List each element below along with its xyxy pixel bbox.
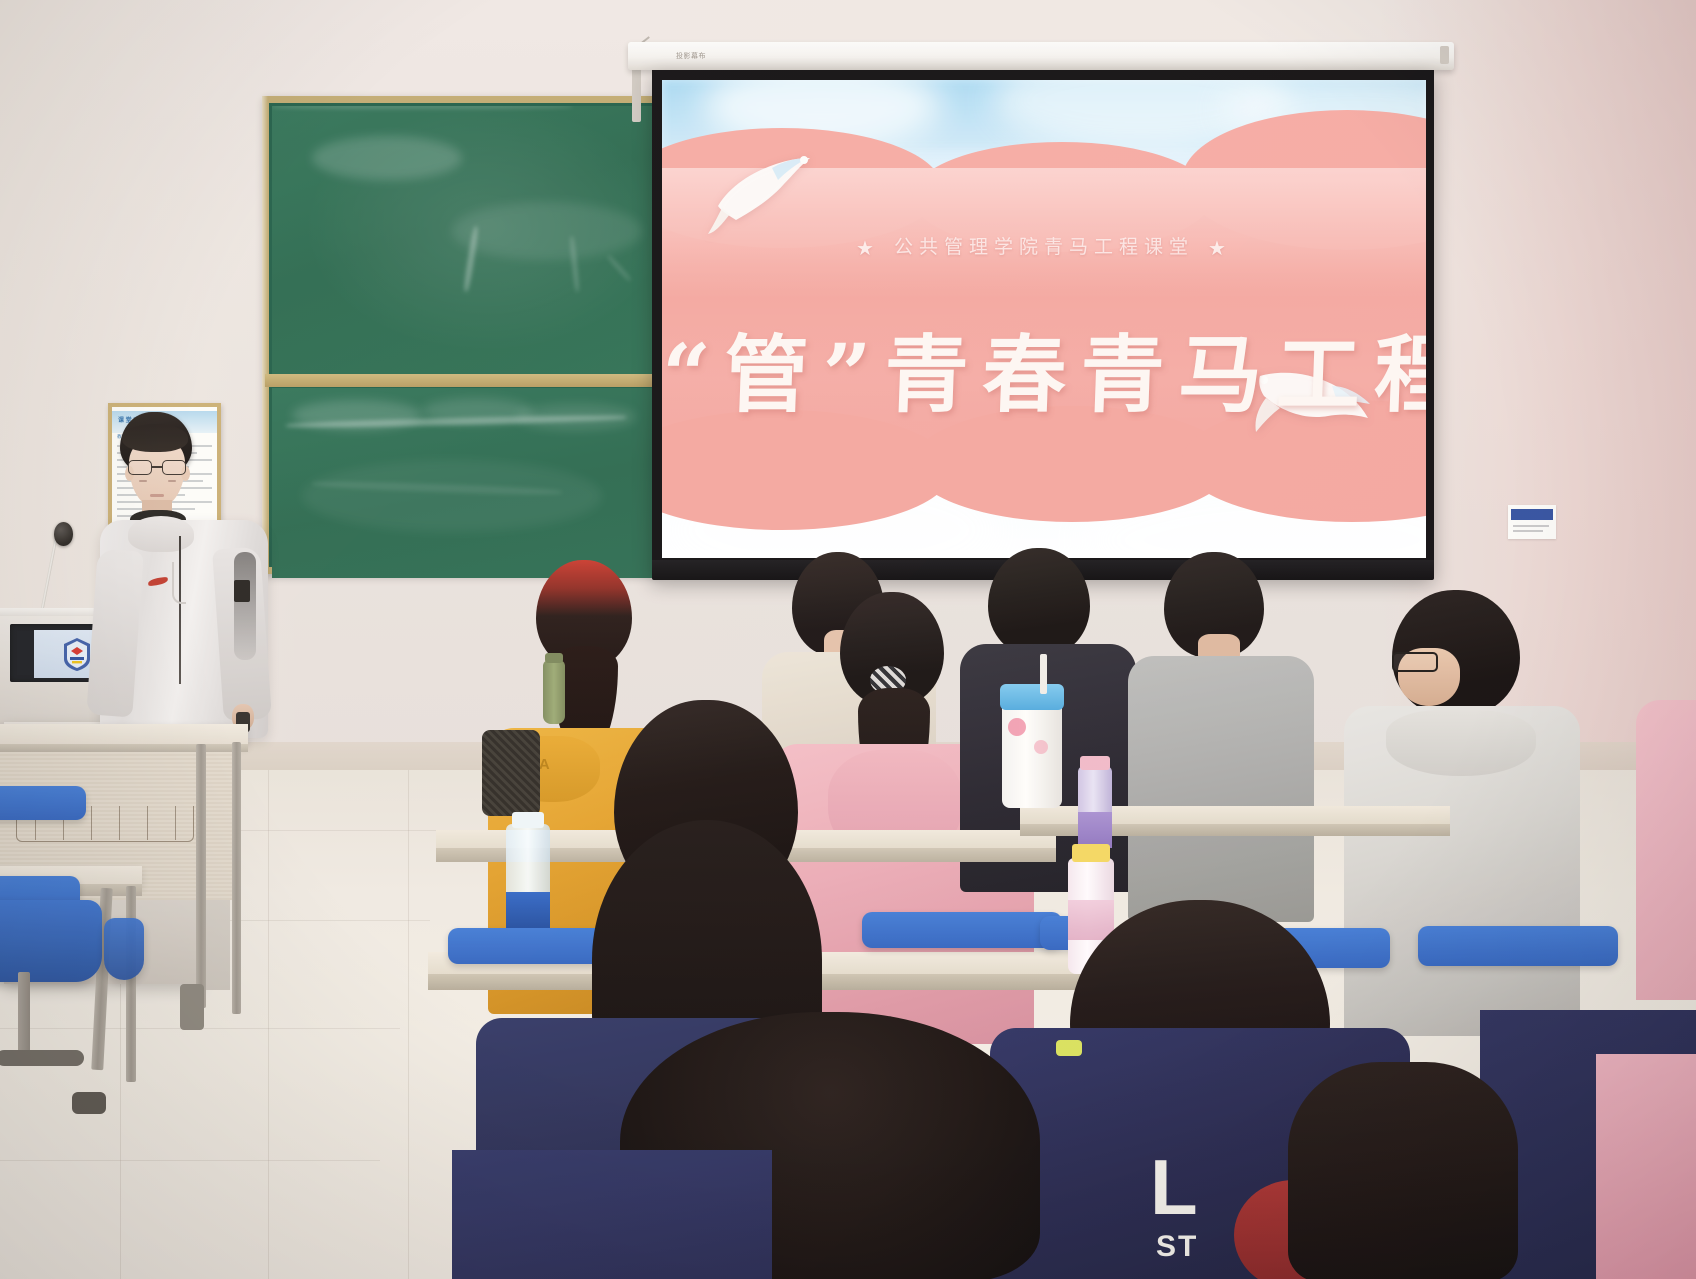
thermos-cap bbox=[545, 653, 563, 663]
chair-front-seat[interactable] bbox=[0, 900, 102, 982]
desk-small-item[interactable] bbox=[1056, 1040, 1082, 1056]
kitty-bottle-decor bbox=[1008, 718, 1026, 736]
purple-bottle-cap bbox=[1080, 756, 1110, 770]
presenter-hood bbox=[128, 516, 194, 552]
kitty-bottle-decor-2 bbox=[1034, 740, 1048, 754]
kitty-bottle-lid bbox=[1000, 684, 1064, 710]
presenter-person bbox=[84, 412, 274, 732]
water-bottle-cap bbox=[512, 812, 544, 828]
presenter-brow-left bbox=[139, 480, 147, 482]
chair-rear-back[interactable] bbox=[0, 786, 86, 820]
presenter-glasses-icon bbox=[128, 460, 186, 476]
slide-subtitle: ★公共管理学院青马工程课堂★ bbox=[662, 232, 1426, 260]
chair-front-post bbox=[18, 972, 30, 1056]
projector-screen-housing[interactable]: 投影幕布 bbox=[628, 42, 1454, 70]
chair-caster bbox=[72, 1092, 106, 1114]
screen-bracket-right bbox=[1440, 46, 1449, 64]
blackboard bbox=[262, 96, 660, 574]
presenter-fringe bbox=[122, 424, 188, 452]
presenter-jacket-shading bbox=[234, 552, 256, 660]
classroom-photo: 课 堂 守 则 教室管理规定 投影幕布 bbox=[0, 0, 1696, 1279]
desk-rear-edge bbox=[0, 744, 248, 752]
presenter-zipper bbox=[179, 536, 181, 684]
thermos-olive[interactable] bbox=[543, 660, 565, 724]
student-glasses-icon bbox=[1392, 652, 1438, 672]
peace-dove-left-icon bbox=[700, 128, 820, 236]
blackboard-lower-panel bbox=[272, 388, 660, 578]
student-hair bbox=[988, 548, 1090, 656]
slide-subtitle-text: 公共管理学院青马工程课堂 bbox=[894, 236, 1194, 258]
desk-foot bbox=[180, 984, 204, 1030]
chair-base bbox=[0, 1050, 84, 1066]
desk-front-leg-2 bbox=[126, 886, 136, 1082]
desk-rear-top bbox=[0, 724, 248, 746]
hoodie-collar bbox=[1386, 710, 1536, 776]
chair-side-seat[interactable] bbox=[104, 918, 144, 980]
purple-bottle-label bbox=[1078, 812, 1112, 848]
jacket-letter-1: L bbox=[1150, 1142, 1200, 1233]
chair-row3-far-right[interactable] bbox=[1418, 926, 1618, 966]
presentation-slide: ★公共管理学院青马工程课堂★ “管”青春青马工程 bbox=[662, 80, 1426, 558]
student-right-foreground-hair bbox=[1288, 1062, 1518, 1279]
student-gray-shirt bbox=[1128, 656, 1314, 922]
student-dark-sleeve bbox=[482, 730, 540, 816]
star-right-icon: ★ bbox=[1208, 236, 1232, 260]
water-bottle-label bbox=[506, 892, 550, 928]
student-far-right-pink-sleeve bbox=[1636, 700, 1696, 1000]
kitty-bottle-straw bbox=[1040, 654, 1047, 694]
exit-wall-sign bbox=[1508, 505, 1556, 539]
microphone-head-icon bbox=[54, 522, 73, 546]
chair-row3-mid[interactable] bbox=[862, 912, 1062, 948]
presenter-drawcord bbox=[172, 562, 186, 604]
blackboard-upper-panel bbox=[272, 106, 660, 374]
presenter-brow-right bbox=[168, 480, 176, 482]
yellow-cap bbox=[1072, 844, 1110, 862]
desk-rear-leg-far bbox=[232, 742, 241, 1014]
slide-main-title: “管”青春青马工程 bbox=[662, 308, 1426, 429]
desk-rear-leg-right bbox=[196, 744, 206, 1008]
student-foreground-shoulder bbox=[452, 1150, 772, 1279]
blackboard-divider bbox=[265, 374, 662, 387]
jacket-letter-3: ST bbox=[1156, 1230, 1198, 1264]
student-right-foreground-pink bbox=[1596, 1054, 1696, 1279]
presenter-mouth bbox=[150, 494, 164, 497]
housing-brand-label: 投影幕布 bbox=[676, 51, 706, 61]
presenter-sleeve-tag bbox=[234, 580, 250, 602]
star-left-icon: ★ bbox=[856, 236, 880, 260]
